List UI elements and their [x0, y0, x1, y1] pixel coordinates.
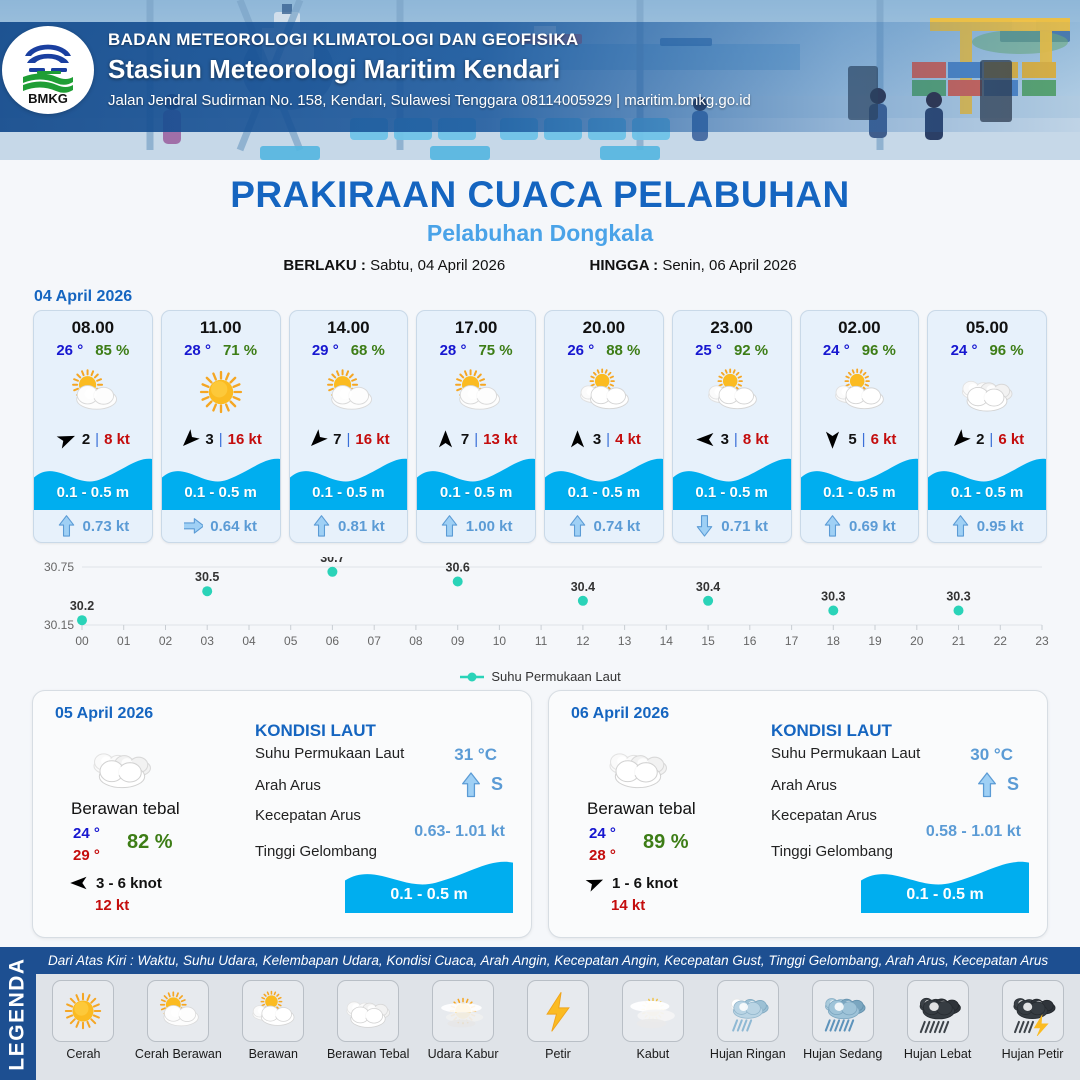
card-current-speed: 0.95 kt: [977, 518, 1024, 535]
card-wave-height: 0.1 - 0.5 m: [801, 484, 919, 501]
berawan-icon: [830, 363, 888, 421]
wave-graphic-icon: [162, 454, 281, 510]
card-wave: 0.1 - 0.5 m: [162, 454, 280, 510]
chart-point: [578, 596, 588, 606]
card-current: 0.64 kt: [162, 510, 280, 542]
berlaku-label: BERLAKU :: [283, 257, 366, 274]
card-wind-speed: 3: [205, 431, 213, 448]
card-wave: 0.1 - 0.5 m: [417, 454, 535, 510]
daily-temp-min: 24 °: [589, 825, 616, 842]
daily-wave: 0.1 - 0.5 m: [861, 857, 1029, 913]
cerah-icon: [192, 363, 250, 421]
card-temperature: 28 °: [440, 342, 467, 359]
chart-point: [703, 596, 713, 606]
cerah-berawan-icon: [64, 363, 122, 421]
current-direction-s-icon: [568, 514, 587, 538]
svg-text:07: 07: [368, 634, 382, 648]
card-current: 0.69 kt: [801, 510, 919, 542]
current-direction-s-icon: [823, 514, 842, 538]
wind-direction-ene-icon: [56, 429, 77, 450]
sea-condition-title: KONDISI LAUT: [771, 721, 892, 741]
svg-text:10: 10: [493, 634, 507, 648]
hingga-label: HINGGA :: [590, 257, 659, 274]
svg-text:19: 19: [868, 634, 882, 648]
card-time: 08.00: [34, 311, 152, 338]
card-current-speed: 0.64 kt: [210, 518, 257, 535]
card-wave: 0.1 - 0.5 m: [673, 454, 791, 510]
chart-point-label: 30.4: [571, 580, 595, 594]
cerah-icon: [58, 986, 108, 1036]
daily-humidity: 82 %: [127, 831, 173, 854]
card-humidity: 92 %: [734, 342, 768, 359]
hujan-petir-icon: [1008, 986, 1058, 1036]
svg-text:01: 01: [117, 634, 131, 648]
hujan-sedang-icon: [818, 986, 868, 1036]
wind-direction-n-icon: [567, 429, 588, 450]
current-direction-n-icon: [695, 514, 714, 538]
daily-card: 06 April 2026 Berawan tebal 24 ° 28 ° 89…: [548, 690, 1048, 938]
svg-text:08: 08: [409, 634, 423, 648]
legend-item-icon: [907, 980, 969, 1042]
legend-item-label: Berawan: [249, 1047, 298, 1061]
current-direction-value: S: [1007, 774, 1019, 795]
card-wind: 2 | 6 kt: [928, 427, 1046, 451]
legend-side-label: LEGENDA: [6, 957, 30, 1070]
daily-wind-range: 3 - 6 knot: [96, 875, 162, 892]
card-temperature: 29 °: [312, 342, 339, 359]
hourly-card: 11.00 28 ° 71 % 3 | 16 kt 0.1 - 0.5 m: [161, 310, 281, 543]
chart-legend: Suhu Permukaan Laut: [0, 669, 1080, 684]
card-temperature: 28 °: [184, 342, 211, 359]
current-direction-label: Arah Arus: [771, 777, 837, 794]
legend-item-label: Petir: [545, 1047, 571, 1061]
svg-text:15: 15: [701, 634, 715, 648]
card-wave-height: 0.1 - 0.5 m: [162, 484, 280, 501]
card-weather-icon: [162, 361, 280, 423]
legend-section: LEGENDA Dari Atas Kiri : Waktu, Suhu Uda…: [0, 947, 1080, 1080]
legend-item: Hujan Sedang: [796, 980, 889, 1061]
legend-item-icon: [52, 980, 114, 1042]
current-direction-s-icon: [951, 514, 970, 538]
legend-item: Cerah Berawan: [132, 980, 225, 1061]
card-temperature: 25 °: [695, 342, 722, 359]
card-current: 0.74 kt: [545, 510, 663, 542]
legend-item-icon: [812, 980, 874, 1042]
cerah-berawan-icon: [447, 363, 505, 421]
berawan-tebal-icon: [343, 986, 393, 1036]
hourly-card: 05.00 24 ° 96 % 2 | 6 kt 0.1 - 0.5 m: [927, 310, 1047, 543]
card-current: 0.95 kt: [928, 510, 1046, 542]
legend-item-label: Hujan Lebat: [904, 1047, 971, 1061]
wind-direction-n-icon: [435, 429, 456, 450]
legend-item: Berawan: [227, 980, 320, 1061]
wind-direction-sw-icon: [179, 429, 200, 450]
card-wave: 0.1 - 0.5 m: [928, 454, 1046, 510]
hujan-ringan-icon: [723, 986, 773, 1036]
card-humidity: 68 %: [351, 342, 385, 359]
chart-point-label: 30.3: [946, 590, 970, 604]
card-humidity: 85 %: [95, 342, 129, 359]
cerah-berawan-icon: [319, 363, 377, 421]
chart-point: [954, 606, 964, 616]
chart-point: [202, 586, 212, 596]
berawan-icon: [248, 986, 298, 1036]
card-gust: 16 kt: [355, 431, 389, 448]
card-wind: 2 | 8 kt: [34, 427, 152, 451]
card-wind: 7 | 16 kt: [290, 427, 408, 451]
card-wind-speed: 2: [976, 431, 984, 448]
card-wind-speed: 7: [333, 431, 341, 448]
card-time: 23.00: [673, 311, 791, 338]
card-wind: 3 | 4 kt: [545, 427, 663, 451]
legend-item-label: Hujan Petir: [1002, 1047, 1064, 1061]
card-wind: 3 | 8 kt: [673, 427, 791, 451]
current-speed-value: 0.63- 1.01 kt: [414, 823, 505, 841]
daily-gust: 14 kt: [611, 897, 645, 914]
card-wave: 0.1 - 0.5 m: [545, 454, 663, 510]
card-time: 02.00: [801, 311, 919, 338]
legend-item-icon: [147, 980, 209, 1042]
legend-item-icon: [337, 980, 399, 1042]
bmkg-logo-icon: BMKG: [11, 34, 85, 106]
svg-text:04: 04: [242, 634, 256, 648]
legend-item-icon: [622, 980, 684, 1042]
daily-humidity: 89 %: [643, 831, 689, 854]
card-weather-icon: [290, 361, 408, 423]
legend-item-label: Cerah Berawan: [135, 1047, 222, 1061]
legend-item: Udara Kabur: [417, 980, 510, 1061]
agency-name: BADAN METEOROLOGI KLIMATOLOGI DAN GEOFIS…: [108, 30, 751, 50]
petir-icon: [533, 986, 583, 1036]
station-name: Stasiun Meteorologi Maritim Kendari: [108, 54, 751, 85]
card-time: 14.00: [290, 311, 408, 338]
legend-item-icon: [527, 980, 589, 1042]
legend-item-icon: [1002, 980, 1064, 1042]
daily-wind: 3 - 6 knot: [69, 873, 162, 893]
wind-direction-w-icon: [69, 873, 89, 893]
daily-forecast-row: 05 April 2026 Berawan tebal 24 ° 29 ° 82…: [0, 690, 1080, 938]
svg-text:13: 13: [618, 634, 632, 648]
svg-text:05: 05: [284, 634, 298, 648]
svg-text:12: 12: [576, 634, 590, 648]
sea-condition-title: KONDISI LAUT: [255, 721, 376, 741]
card-humidity: 96 %: [989, 342, 1023, 359]
page-header: BMKG BADAN METEOROLOGI KLIMATOLOGI DAN G…: [0, 0, 1080, 160]
card-time: 11.00: [162, 311, 280, 338]
card-wave-height: 0.1 - 0.5 m: [290, 484, 408, 501]
svg-text:BMKG: BMKG: [28, 91, 68, 106]
chart-point-label: 30.3: [821, 590, 845, 604]
daily-condition: Berawan tebal: [587, 799, 696, 819]
legend-items: Cerah Cerah Berawan Berawan Berawan Te: [36, 974, 1080, 1080]
card-wave-height: 0.1 - 0.5 m: [34, 484, 152, 501]
card-gust: 8 kt: [104, 431, 130, 448]
station-address: Jalan Jendral Sudirman No. 158, Kendari,…: [108, 92, 751, 109]
card-wind-speed: 7: [461, 431, 469, 448]
validity-period: BERLAKU : Sabtu, 04 April 2026 HINGGA : …: [0, 257, 1080, 274]
chart-point: [453, 577, 463, 587]
card-wave-height: 0.1 - 0.5 m: [545, 484, 663, 501]
current-direction-w-icon: [184, 514, 203, 538]
page-title: PRAKIRAAN CUACA PELABUHAN: [0, 174, 1080, 216]
card-current-speed: 0.81 kt: [338, 518, 385, 535]
wave-graphic-icon: [290, 454, 409, 510]
wave-graphic-icon: [34, 454, 153, 510]
card-weather-icon: [801, 361, 919, 423]
svg-text:20: 20: [910, 634, 924, 648]
sst-label: Suhu Permukaan Laut: [255, 745, 404, 762]
card-time: 05.00: [928, 311, 1046, 338]
card-gust: 6 kt: [998, 431, 1024, 448]
berawan-tebal-icon: [605, 733, 671, 799]
card-humidity: 71 %: [223, 342, 257, 359]
daily-wind: 1 - 6 knot: [585, 873, 678, 893]
card-weather-icon: [673, 361, 791, 423]
chart-legend-marker-icon: [459, 671, 485, 683]
wind-direction-w-icon: [695, 429, 716, 450]
card-gust: 4 kt: [615, 431, 641, 448]
card-wave: 0.1 - 0.5 m: [34, 454, 152, 510]
card-gust: 8 kt: [743, 431, 769, 448]
sst-chart: 30.7530.15000102030405060708091011121314…: [24, 557, 1056, 667]
daily-temp-max: 29 °: [73, 847, 100, 864]
card-temperature: 26 °: [56, 342, 83, 359]
daily-condition: Berawan tebal: [71, 799, 180, 819]
sst-label: Suhu Permukaan Laut: [771, 745, 920, 762]
legend-item-label: Hujan Ringan: [710, 1047, 786, 1061]
wave-graphic-icon: [801, 454, 920, 510]
daily-temp-min: 24 °: [73, 825, 100, 842]
card-wind: 3 | 16 kt: [162, 427, 280, 451]
wind-direction-s-icon: [822, 429, 843, 450]
svg-text:30.15: 30.15: [44, 618, 74, 632]
hourly-card: 14.00 29 ° 68 % 7 | 16 kt 0.1 - 0.5 m: [289, 310, 409, 543]
hourly-date: 04 April 2026: [34, 288, 1080, 306]
hourly-card: 02.00 24 ° 96 % 5 | 6 kt 0.1 - 0.5 m: [800, 310, 920, 543]
card-wind-speed: 2: [82, 431, 90, 448]
current-direction-s-icon: [460, 771, 482, 799]
wave-graphic-icon: [861, 857, 1029, 913]
berlaku-value: Sabtu, 04 April 2026: [370, 257, 505, 274]
card-temperature: 24 °: [823, 342, 850, 359]
current-direction-label: Arah Arus: [255, 777, 321, 794]
legend-item: Hujan Ringan: [701, 980, 794, 1061]
card-current: 0.71 kt: [673, 510, 791, 542]
card-humidity: 88 %: [606, 342, 640, 359]
chart-legend-label: Suhu Permukaan Laut: [491, 669, 620, 684]
legend-item: Hujan Lebat: [891, 980, 984, 1061]
card-wave: 0.1 - 0.5 m: [290, 454, 408, 510]
legend-item-label: Cerah: [66, 1047, 100, 1061]
card-wind: 7 | 13 kt: [417, 427, 535, 451]
card-temperature: 26 °: [567, 342, 594, 359]
svg-text:06: 06: [326, 634, 340, 648]
legend-item: Cerah: [37, 980, 130, 1061]
current-direction: S: [460, 771, 503, 799]
legend-side-banner: LEGENDA: [0, 947, 36, 1080]
legend-item-label: Berawan Tebal: [327, 1047, 409, 1061]
card-weather-icon: [545, 361, 663, 423]
svg-text:09: 09: [451, 634, 465, 648]
card-time: 17.00: [417, 311, 535, 338]
svg-text:21: 21: [952, 634, 966, 648]
legend-item: Petir: [511, 980, 604, 1061]
bmkg-logo: BMKG: [2, 26, 94, 114]
card-current: 0.73 kt: [34, 510, 152, 542]
chart-point-label: 30.7: [320, 557, 344, 565]
chart-point-label: 30.2: [70, 599, 94, 613]
chart-point-label: 30.6: [446, 561, 470, 575]
card-gust: 6 kt: [871, 431, 897, 448]
hourly-forecast-row: 08.00 26 ° 85 % 2 | 8 kt 0.1 - 0.5 m: [0, 310, 1080, 543]
card-weather-icon: [417, 361, 535, 423]
card-wind-speed: 5: [848, 431, 856, 448]
card-time: 20.00: [545, 311, 663, 338]
legend-item: Berawan Tebal: [322, 980, 415, 1061]
legend-item-icon: [242, 980, 304, 1042]
svg-text:14: 14: [660, 634, 674, 648]
hourly-card: 20.00 26 ° 88 % 3 | 4 kt 0.1 - 0.5 m: [544, 310, 664, 543]
wind-direction-sw-icon: [950, 429, 971, 450]
chart-point-label: 30.4: [696, 580, 720, 594]
daily-wave: 0.1 - 0.5 m: [345, 857, 513, 913]
daily-wind-range: 1 - 6 knot: [612, 875, 678, 892]
wave-graphic-icon: [345, 857, 513, 913]
current-speed-value: 0.58 - 1.01 kt: [926, 823, 1021, 841]
svg-text:22: 22: [994, 634, 1008, 648]
svg-text:11: 11: [535, 634, 548, 648]
wind-direction-ene-icon: [585, 873, 605, 893]
card-humidity: 96 %: [862, 342, 896, 359]
current-direction-value: S: [491, 774, 503, 795]
legend-note: Dari Atas Kiri : Waktu, Suhu Udara, Kele…: [36, 947, 1080, 974]
daily-wave-value: 0.1 - 0.5 m: [345, 886, 513, 904]
card-wave-height: 0.1 - 0.5 m: [673, 484, 791, 501]
card-current-speed: 1.00 kt: [466, 518, 513, 535]
daily-temp-max: 28 °: [589, 847, 616, 864]
card-wind-speed: 3: [593, 431, 601, 448]
card-gust: 16 kt: [228, 431, 262, 448]
svg-text:17: 17: [785, 634, 799, 648]
title-block: PRAKIRAAN CUACA PELABUHAN Pelabuhan Dong…: [0, 174, 1080, 274]
legend-item: Hujan Petir: [986, 980, 1079, 1061]
daily-card: 05 April 2026 Berawan tebal 24 ° 29 ° 82…: [32, 690, 532, 938]
current-speed-label: Kecepatan Arus: [771, 807, 877, 824]
berawan-icon: [703, 363, 761, 421]
card-temperature: 24 °: [951, 342, 978, 359]
cerah-berawan-icon: [153, 986, 203, 1036]
card-weather-icon: [928, 361, 1046, 423]
card-wind-speed: 3: [721, 431, 729, 448]
card-current-speed: 0.74 kt: [594, 518, 641, 535]
chart-point: [828, 606, 838, 616]
svg-text:30.75: 30.75: [44, 560, 74, 574]
card-current-speed: 0.73 kt: [83, 518, 130, 535]
card-gust: 13 kt: [483, 431, 517, 448]
sst-value: 31 °C: [454, 745, 497, 765]
svg-text:16: 16: [743, 634, 757, 648]
card-current: 0.81 kt: [290, 510, 408, 542]
legend-item: Kabut: [606, 980, 699, 1061]
hourly-card: 23.00 25 ° 92 % 3 | 8 kt 0.1 - 0.5 m: [672, 310, 792, 543]
card-current-speed: 0.69 kt: [849, 518, 896, 535]
current-direction-s-icon: [57, 514, 76, 538]
card-wave-height: 0.1 - 0.5 m: [417, 484, 535, 501]
wind-direction-sw-icon: [307, 429, 328, 450]
svg-text:18: 18: [827, 634, 841, 648]
port-name: Pelabuhan Dongkala: [0, 220, 1080, 247]
hourly-card: 17.00 28 ° 75 % 7 | 13 kt 0.1 - 0.5 m: [416, 310, 536, 543]
chart-point-label: 30.5: [195, 570, 219, 584]
current-direction-s-icon: [312, 514, 331, 538]
wave-graphic-icon: [928, 454, 1047, 510]
berawan-tebal-icon: [89, 733, 155, 799]
hingga-value: Senin, 06 April 2026: [662, 257, 796, 274]
svg-text:02: 02: [159, 634, 173, 648]
current-direction-s-icon: [976, 771, 998, 799]
daily-weather-icon: [89, 733, 155, 804]
berawan-icon: [575, 363, 633, 421]
legend-item-label: Kabut: [637, 1047, 670, 1061]
card-current-speed: 0.71 kt: [721, 518, 768, 535]
card-wave-height: 0.1 - 0.5 m: [928, 484, 1046, 501]
wave-graphic-icon: [417, 454, 536, 510]
svg-text:00: 00: [75, 634, 89, 648]
sst-value: 30 °C: [970, 745, 1013, 765]
card-humidity: 75 %: [478, 342, 512, 359]
legend-item-label: Udara Kabur: [428, 1047, 499, 1061]
kabut-icon: [628, 986, 678, 1036]
daily-date: 06 April 2026: [571, 705, 669, 723]
wave-graphic-icon: [545, 454, 664, 510]
current-speed-label: Kecepatan Arus: [255, 807, 361, 824]
current-direction: S: [976, 771, 1019, 799]
card-wind: 5 | 6 kt: [801, 427, 919, 451]
daily-gust: 12 kt: [95, 897, 129, 914]
daily-date: 05 April 2026: [55, 705, 153, 723]
daily-weather-icon: [605, 733, 671, 804]
legend-item-icon: [717, 980, 779, 1042]
card-wave: 0.1 - 0.5 m: [801, 454, 919, 510]
card-weather-icon: [34, 361, 152, 423]
legend-item-icon: [432, 980, 494, 1042]
berawan-tebal-icon: [958, 363, 1016, 421]
hujan-lebat-icon: [913, 986, 963, 1036]
svg-text:03: 03: [201, 634, 215, 648]
chart-point: [77, 615, 87, 625]
legend-item-label: Hujan Sedang: [803, 1047, 882, 1061]
hourly-card: 08.00 26 ° 85 % 2 | 8 kt 0.1 - 0.5 m: [33, 310, 153, 543]
current-direction-s-icon: [440, 514, 459, 538]
wave-graphic-icon: [673, 454, 792, 510]
udara-kabur-icon: [438, 986, 488, 1036]
daily-wave-value: 0.1 - 0.5 m: [861, 886, 1029, 904]
card-current: 1.00 kt: [417, 510, 535, 542]
chart-point: [327, 567, 337, 577]
sst-chart-svg: 30.7530.15000102030405060708091011121314…: [24, 557, 1056, 667]
svg-text:23: 23: [1035, 634, 1049, 648]
